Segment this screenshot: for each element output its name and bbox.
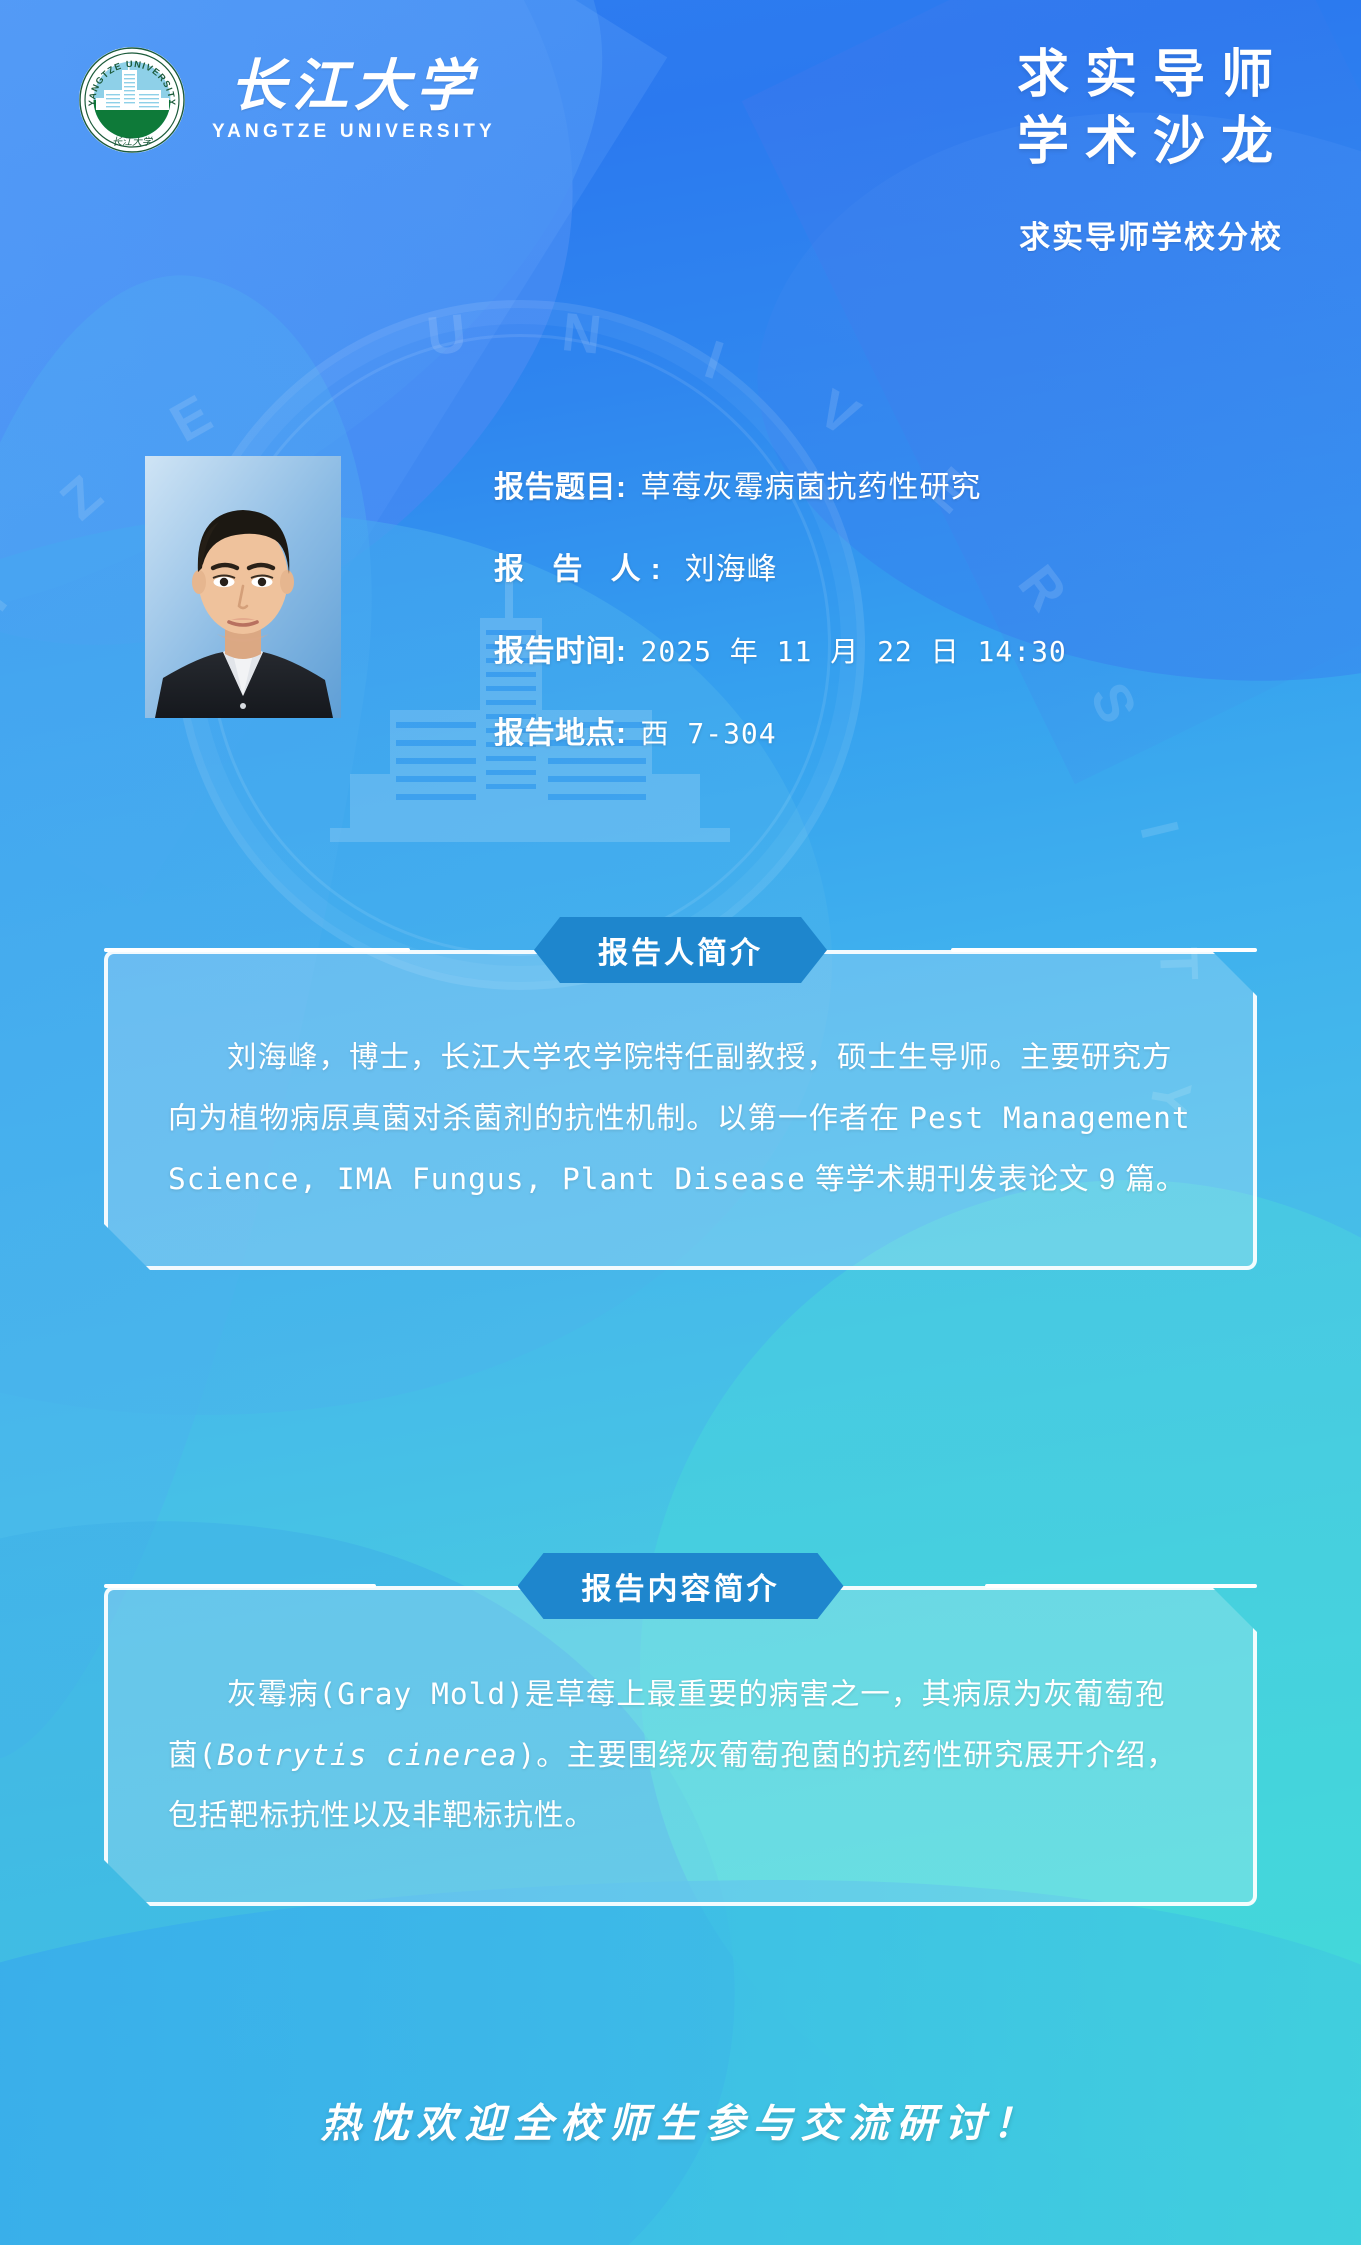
yangtze-university-seal-icon: YANGTZE UNIVERSITY 长江大学 [78,46,186,154]
brand-name-en: YANGTZE UNIVERSITY [212,121,496,143]
info-row: 报告地点: 西 7-304 [494,708,1067,752]
speaker-bio-text: 刘海峰，博士，长江大学农学院特任副教授，硕士生导师。主要研究方向为植物病原真菌对… [168,1028,1193,1210]
info-label: 报告时间: [494,626,627,670]
poster-header: YANGTZE UNIVERSITY 长江大学 长江大学 YANGTZE UNI… [0,0,1361,300]
talk-abstract-card: 灰霉病(Gray Mold)是草莓上最重要的病害之一，其病原为灰葡萄孢菌(Bot… [104,1586,1257,1906]
salon-title: 求实导师 学术沙龙 [1001,42,1289,175]
speaker-bio-banner-row: 报告人简介 [0,922,1361,978]
talk-info: 报告题目: 草莓灰霉病菌抗药性研究 报 告 人: 刘海峰 报告时间: 2025 … [494,462,1067,752]
salon-title-line2: 学术沙龙 [1001,109,1289,176]
info-value: 西 7-304 [641,712,777,752]
salon-subtitle: 求实导师学校分校 [1019,212,1283,257]
info-row: 报告题目: 草莓灰霉病菌抗药性研究 [494,462,1067,506]
talk-abstract-banner-label: 报告内容简介 [518,1553,844,1619]
university-logo: YANGTZE UNIVERSITY 长江大学 长江大学 YANGTZE UNI… [78,46,496,154]
brand-name-cn: 长江大学 [230,57,478,116]
info-row: 报告时间: 2025 年 11 月 22 日 14:30 [494,626,1067,670]
info-label: 报告题目: [494,462,627,506]
info-row: 报 告 人: 刘海峰 [494,544,1067,588]
speaker-portrait [145,456,341,718]
speaker-bio-section: 报告人简介 刘海峰，博士，长江大学农学院特任副教授，硕士生导师。主要研究方向为植… [0,922,1361,1270]
info-value: 刘海峰 [685,544,778,588]
salon-title-line1: 求实导师 [1001,42,1289,109]
info-label: 报 告 人: [494,544,671,588]
svg-text:长江大学: 长江大学 [112,136,153,148]
info-value: 2025 年 11 月 22 日 14:30 [641,630,1067,670]
bg-blob-7 [0,1880,1361,2245]
banner-rule-left [104,948,410,952]
talk-abstract-text: 灰霉病(Gray Mold)是草莓上最重要的病害之一，其病原为灰葡萄孢菌(Bot… [168,1664,1193,1846]
speaker-bio-banner-label: 报告人简介 [534,917,827,983]
poster-root: YANGTZE UNIVERSITY [0,0,1361,2245]
footer-welcome-text: 热忱欢迎全校师生参与交流研讨！ [0,2091,1361,2149]
talk-abstract-section: 报告内容简介 灰霉病(Gray Mold)是草莓上最重要的病害之一，其病原为灰葡… [0,1558,1361,1906]
banner-rule-right [951,948,1257,952]
speaker-bio-card: 刘海峰，博士，长江大学农学院特任副教授，硕士生导师。主要研究方向为植物病原真菌对… [104,950,1257,1270]
info-label: 报告地点: [494,708,627,752]
brand-lockup: 长江大学 YANGTZE UNIVERSITY [212,57,496,144]
talk-abstract-banner-row: 报告内容简介 [0,1558,1361,1614]
banner-rule-left [104,1584,376,1588]
banner-rule-right [985,1584,1257,1588]
info-value: 草莓灰霉病菌抗药性研究 [641,462,982,506]
